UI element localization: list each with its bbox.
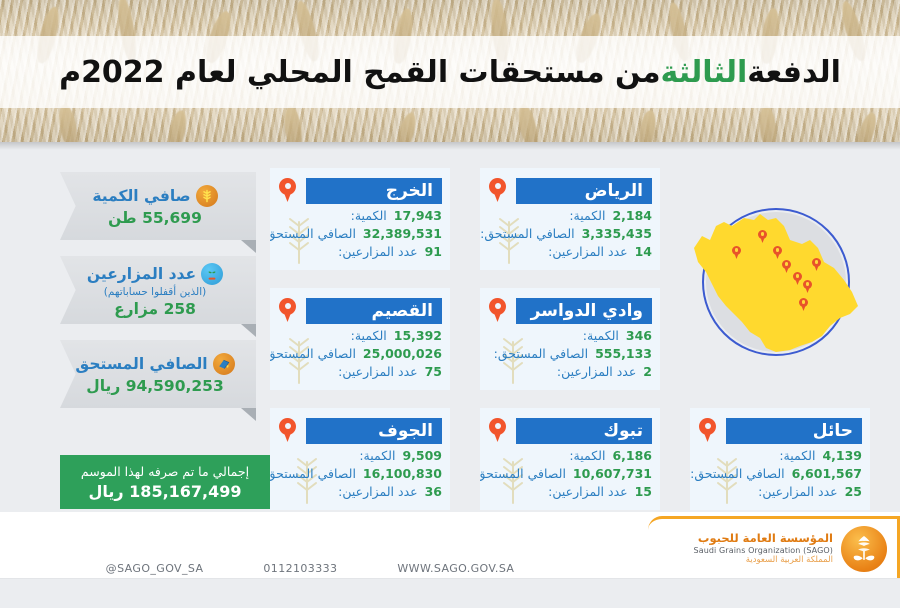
infographic-page: الدفعة الثالثة من مستحقات القمح المحلي ل… bbox=[0, 0, 900, 608]
footer-contacts: @SAGO_GOV_SA 0112103333 WWW.SAGO.GOV.SA bbox=[0, 555, 620, 581]
season-total-caption: إجمالي ما تم صرفه لهذا الموسم bbox=[81, 464, 249, 479]
net-due-label: الصافي المستحق: bbox=[270, 226, 356, 241]
net-due-value: 16,100,830 bbox=[363, 466, 442, 481]
region-name: القصيم bbox=[372, 303, 433, 320]
wheat-icon bbox=[196, 185, 218, 207]
header-shadow bbox=[0, 142, 900, 150]
farmers-label: عدد المزارعين: bbox=[338, 364, 417, 379]
net-due-value: 6,601,567 bbox=[792, 466, 862, 481]
net-due-value: 25,000,026 bbox=[363, 346, 442, 361]
net-due-value: 3,335,435 bbox=[582, 226, 652, 241]
net-due-value: 32,389,531 bbox=[363, 226, 442, 241]
stat-net-due: الصافي المستحق 94,590,253 ريال bbox=[60, 340, 256, 408]
logo-country: المملكة العربية السعودية bbox=[746, 555, 833, 565]
farmers-value: 15 bbox=[635, 484, 652, 499]
stat-farmers-count: عدد المزارعين (الذين أقفلوا حساباتهم) 25… bbox=[60, 256, 256, 324]
farmers-label: عدد المزارعين: bbox=[548, 244, 627, 259]
region-card[interactable]: الخرج 17,943الكمية: 32,389,531الصافي الم… bbox=[270, 168, 450, 270]
farmers-label: عدد المزارعين: bbox=[338, 484, 417, 499]
quantity-value: 2,184 bbox=[612, 208, 652, 223]
farmers-label: عدد المزارعين: bbox=[758, 484, 837, 499]
region-stats: 2,184الكمية: 3,335,435الصافي المستحق: 14… bbox=[488, 208, 652, 259]
logo-name-en: Saudi Grains Organization (SAGO) bbox=[694, 546, 833, 555]
farmers-label: عدد المزارعين: bbox=[338, 244, 417, 259]
region-stats: 17,943الكمية: 32,389,531الصافي المستحق: … bbox=[278, 208, 442, 259]
saudi-arabia-map bbox=[672, 196, 884, 376]
map-pin bbox=[793, 272, 802, 285]
net-due-value: 555,133 bbox=[595, 346, 652, 361]
title-highlight: الثالثة bbox=[661, 55, 748, 90]
farmers-value: 25 bbox=[845, 484, 862, 499]
quantity-value: 6,186 bbox=[612, 448, 652, 463]
map-pin bbox=[782, 260, 791, 273]
twitter-handle[interactable]: @SAGO_GOV_SA bbox=[106, 562, 204, 575]
map-pin bbox=[758, 230, 767, 243]
region-stats: 346الكمية: 555,133الصافي المستحق: 2عدد ا… bbox=[488, 328, 652, 379]
header-banner: الدفعة الثالثة من مستحقات القمح المحلي ل… bbox=[0, 0, 900, 142]
stat-label: الصافي المستحق bbox=[75, 355, 207, 373]
region-stats: 4,139الكمية: 6,601,567الصافي المستحق: 25… bbox=[698, 448, 862, 499]
farmers-value: 36 bbox=[425, 484, 442, 499]
region-name: الرياض bbox=[585, 183, 643, 200]
quantity-value: 15,392 bbox=[394, 328, 442, 343]
sago-logo-panel: المؤسسة العامة للحبوب Saudi Grains Organ… bbox=[648, 516, 900, 578]
location-pin-icon bbox=[489, 418, 506, 442]
region-card[interactable]: الجوف 9,509الكمية: 16,100,830الصافي المس… bbox=[270, 408, 450, 510]
stat-value: 55,699 طن bbox=[108, 209, 202, 227]
region-card[interactable]: القصيم 15,392الكمية: 25,000,026الصافي ال… bbox=[270, 288, 450, 390]
quantity-label: الكمية: bbox=[359, 448, 395, 463]
region-card[interactable]: حائل 4,139الكمية: 6,601,567الصافي المستح… bbox=[690, 408, 870, 510]
map-pin bbox=[732, 246, 741, 259]
quantity-label: الكمية: bbox=[583, 328, 619, 343]
website-url[interactable]: WWW.SAGO.GOV.SA bbox=[397, 562, 514, 575]
stat-fold-3 bbox=[241, 408, 256, 421]
region-card[interactable]: وادي الدواسر 346الكمية: 555,133الصافي ال… bbox=[480, 288, 660, 390]
net-due-label: الصافي المستحق: bbox=[480, 466, 566, 481]
farmers-value: 14 bbox=[635, 244, 652, 259]
region-title-bar: تبوك bbox=[516, 418, 652, 444]
location-pin-icon bbox=[489, 178, 506, 202]
net-due-value: 10,607,731 bbox=[573, 466, 652, 481]
location-pin-icon bbox=[279, 298, 296, 322]
quantity-label: الكمية: bbox=[351, 208, 387, 223]
region-name: وادي الدواسر bbox=[531, 303, 643, 320]
region-title-bar: الجوف bbox=[306, 418, 442, 444]
location-pin-icon bbox=[279, 178, 296, 202]
stat-fold-2 bbox=[241, 324, 256, 337]
quantity-value: 4,139 bbox=[822, 448, 862, 463]
region-stats: 6,186الكمية: 10,607,731الصافي المستحق: 1… bbox=[488, 448, 652, 499]
map-pin bbox=[773, 246, 782, 259]
stat-label: صافي الكمية bbox=[92, 187, 190, 205]
season-total-amount: 185,167,499 ريال bbox=[88, 482, 241, 501]
map-pin bbox=[799, 298, 808, 311]
farmer-icon bbox=[201, 263, 223, 285]
quantity-value: 17,943 bbox=[394, 208, 442, 223]
stat-value: 94,590,253 ريال bbox=[86, 377, 223, 395]
region-name: الجوف bbox=[378, 423, 433, 440]
sago-emblem-icon bbox=[841, 526, 887, 572]
location-pin-icon bbox=[279, 418, 296, 442]
farmers-value: 75 bbox=[425, 364, 442, 379]
location-pin-icon bbox=[699, 418, 716, 442]
stat-value: 258 مزارع bbox=[114, 300, 196, 318]
title-text-before: الدفعة bbox=[747, 55, 841, 90]
region-title-bar: حائل bbox=[726, 418, 862, 444]
map-pin bbox=[812, 258, 821, 271]
map-shape bbox=[672, 196, 884, 376]
map-pin bbox=[803, 280, 812, 293]
net-due-label: الصافي المستحق: bbox=[494, 346, 588, 361]
region-card[interactable]: الرياض 2,184الكمية: 3,335,435الصافي المس… bbox=[480, 168, 660, 270]
quantity-value: 346 bbox=[626, 328, 652, 343]
region-name: الخرج bbox=[386, 183, 433, 200]
farmers-label: عدد المزارعين: bbox=[557, 364, 636, 379]
region-name: تبوك bbox=[603, 423, 643, 440]
season-total-box: إجمالي ما تم صرفه لهذا الموسم 185,167,49… bbox=[60, 455, 270, 509]
farmers-value: 91 bbox=[425, 244, 442, 259]
farmers-value: 2 bbox=[643, 364, 652, 379]
region-stats: 15,392الكمية: 25,000,026الصافي المستحق: … bbox=[278, 328, 442, 379]
region-title-bar: الرياض bbox=[516, 178, 652, 204]
net-due-label: الصافي المستحق: bbox=[270, 346, 356, 361]
quantity-label: الكمية: bbox=[569, 448, 605, 463]
phone-number[interactable]: 0112103333 bbox=[263, 562, 337, 575]
stat-label: عدد المزارعين bbox=[87, 265, 196, 283]
net-due-label: الصافي المستحق: bbox=[690, 466, 784, 481]
stat-net-quantity: صافي الكمية 55,699 طن bbox=[60, 172, 256, 240]
net-due-label: الصافي المستحق: bbox=[480, 226, 574, 241]
quantity-value: 9,509 bbox=[402, 448, 442, 463]
region-stats: 9,509الكمية: 16,100,830الصافي المستحق: 3… bbox=[278, 448, 442, 499]
quantity-label: الكمية: bbox=[351, 328, 387, 343]
quantity-label: الكمية: bbox=[779, 448, 815, 463]
region-name: حائل bbox=[813, 423, 853, 440]
net-due-label: الصافي المستحق: bbox=[270, 466, 356, 481]
page-title: الدفعة الثالثة من مستحقات القمح المحلي ل… bbox=[0, 36, 900, 108]
region-title-bar: القصيم bbox=[306, 298, 442, 324]
stat-sublabel: (الذين أقفلوا حساباتهم) bbox=[104, 286, 206, 298]
stat-fold-1 bbox=[241, 240, 256, 253]
region-title-bar: الخرج bbox=[306, 178, 442, 204]
location-pin-icon bbox=[489, 298, 506, 322]
sago-logo-text: المؤسسة العامة للحبوب Saudi Grains Organ… bbox=[694, 532, 833, 565]
quantity-label: الكمية: bbox=[569, 208, 605, 223]
logo-name-ar: المؤسسة العامة للحبوب bbox=[698, 532, 833, 546]
farmers-label: عدد المزارعين: bbox=[548, 484, 627, 499]
footer-bottom-strip bbox=[0, 579, 900, 608]
region-card[interactable]: تبوك 6,186الكمية: 10,607,731الصافي المست… bbox=[480, 408, 660, 510]
money-icon bbox=[213, 353, 235, 375]
region-title-bar: وادي الدواسر bbox=[516, 298, 652, 324]
title-text-after: من مستحقات القمح المحلي لعام 2022م bbox=[59, 55, 660, 90]
